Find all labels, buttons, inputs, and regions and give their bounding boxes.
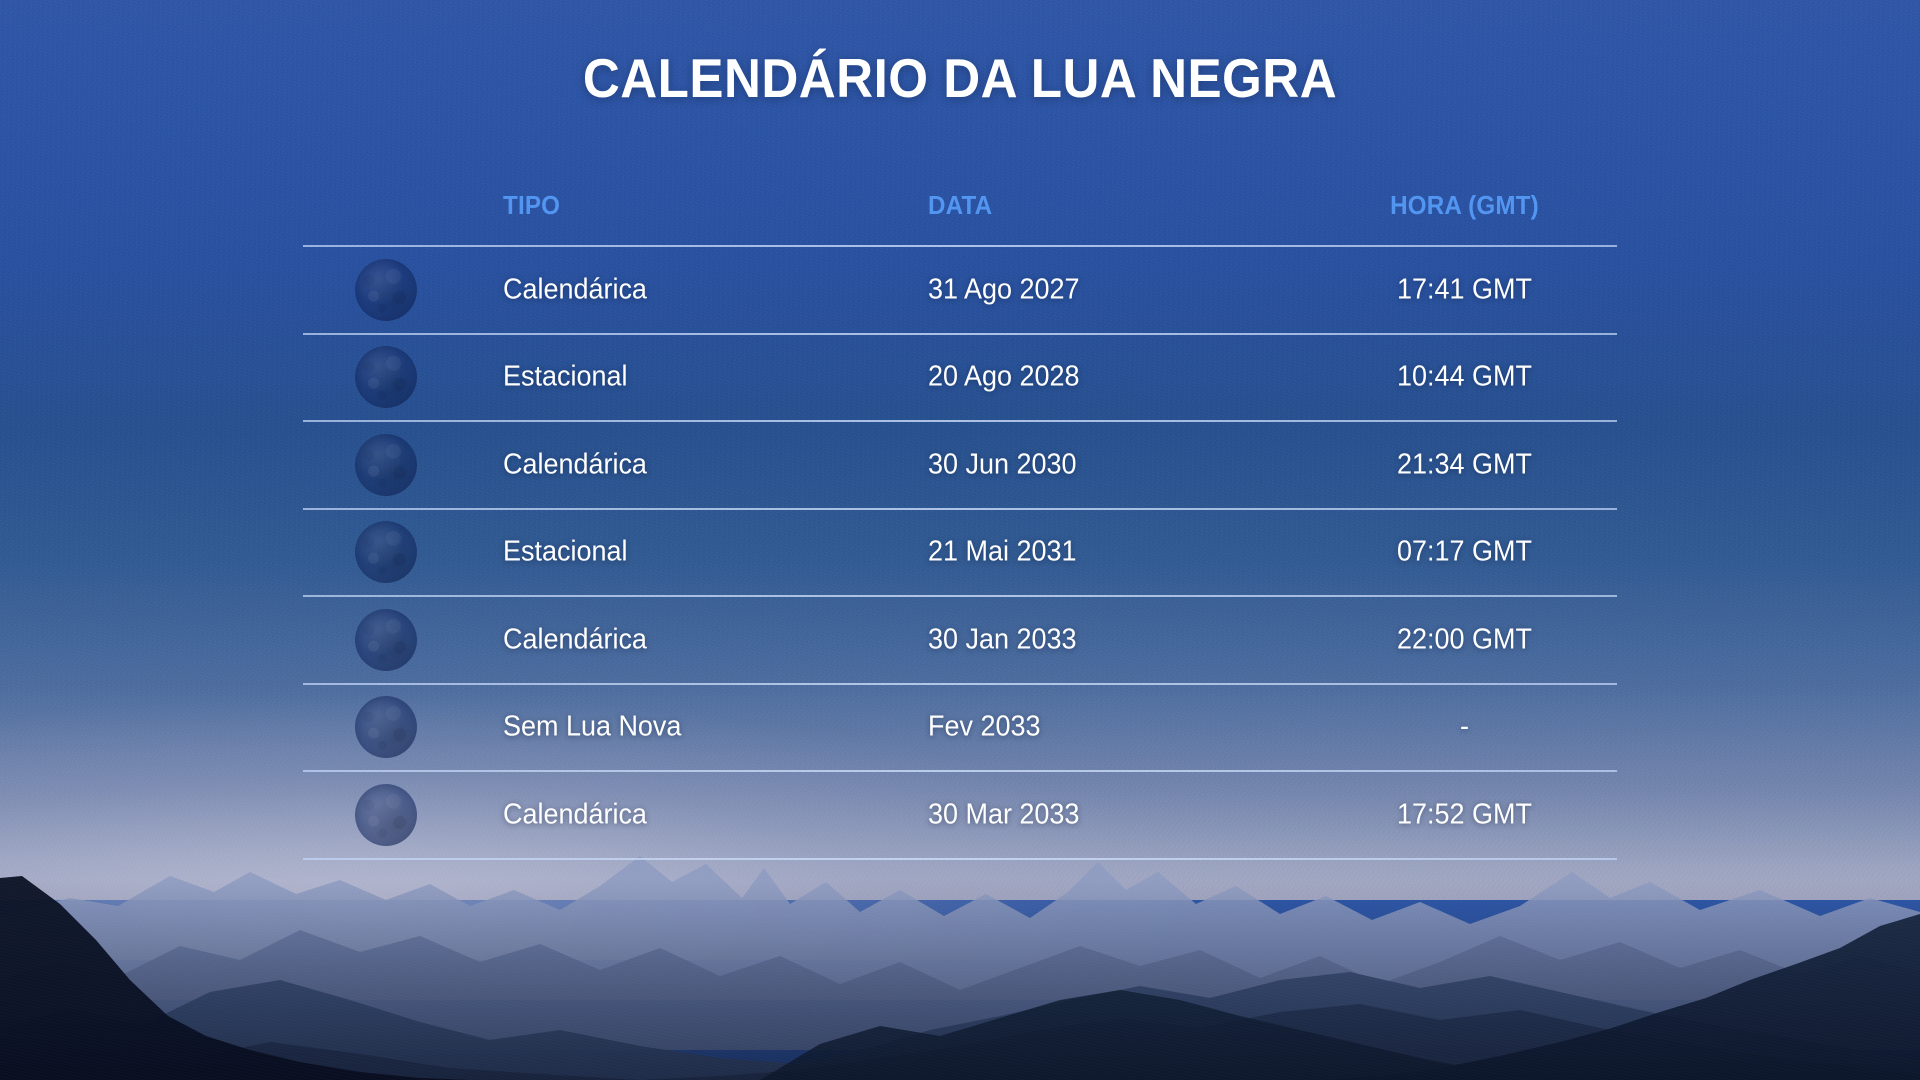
cell-hora: 22:00 GMT xyxy=(1373,623,1556,656)
table-row[interactable]: Calendárica 31 Ago 2027 17:41 GMT xyxy=(303,247,1617,333)
cell-data: 30 Mar 2033 xyxy=(928,798,1079,831)
cell-data: 21 Mai 2031 xyxy=(928,536,1076,569)
moon-icon xyxy=(355,696,417,758)
cell-data: 30 Jan 2033 xyxy=(928,623,1076,656)
moon-icon xyxy=(355,521,417,583)
table-row[interactable]: Calendárica 30 Jun 2030 21:34 GMT xyxy=(303,422,1617,508)
cell-data: Fev 2033 xyxy=(928,711,1040,744)
cell-hora: 21:34 GMT xyxy=(1373,448,1556,481)
column-header-hora: HORA (GMT) xyxy=(1366,190,1563,221)
cell-tipo: Calendárica xyxy=(503,798,647,831)
table-row[interactable]: Estacional 20 Ago 2028 10:44 GMT xyxy=(303,335,1617,421)
table-row[interactable]: Calendárica 30 Jan 2033 22:00 GMT xyxy=(303,597,1617,683)
cell-hora: - xyxy=(1373,711,1556,744)
cell-tipo: Calendárica xyxy=(503,448,647,481)
moon-icon xyxy=(355,259,417,321)
cell-hora: 10:44 GMT xyxy=(1373,361,1556,394)
cell-tipo: Sem Lua Nova xyxy=(503,711,681,744)
table-row[interactable]: Calendárica 30 Mar 2033 17:52 GMT xyxy=(303,772,1617,858)
cell-tipo: Calendárica xyxy=(503,273,647,306)
cell-tipo: Estacional xyxy=(503,536,627,569)
cell-data: 31 Ago 2027 xyxy=(928,273,1079,306)
cell-data: 30 Jun 2030 xyxy=(928,448,1076,481)
cell-data: 20 Ago 2028 xyxy=(928,361,1079,394)
moon-icon xyxy=(355,784,417,846)
table-row[interactable]: Estacional 21 Mai 2031 07:17 GMT xyxy=(303,510,1617,596)
black-moon-calendar-table: TIPO DATA HORA (GMT) Calendárica 31 Ago … xyxy=(303,190,1617,860)
cell-hora: 17:41 GMT xyxy=(1373,273,1556,306)
cell-hora: 07:17 GMT xyxy=(1373,536,1556,569)
table-header-row: TIPO DATA HORA (GMT) xyxy=(303,190,1617,245)
moon-icon xyxy=(355,609,417,671)
column-header-tipo: TIPO xyxy=(503,190,564,221)
table-divider xyxy=(303,858,1617,860)
cell-hora: 17:52 GMT xyxy=(1373,798,1556,831)
table-row[interactable]: Sem Lua Nova Fev 2033 - xyxy=(303,685,1617,771)
column-header-data: DATA xyxy=(928,190,997,221)
cell-tipo: Calendárica xyxy=(503,623,647,656)
cell-tipo: Estacional xyxy=(503,361,627,394)
page-title: CALENDÁRIO DA LUA NEGRA xyxy=(67,46,1853,110)
moon-icon xyxy=(355,346,417,408)
moon-icon xyxy=(355,434,417,496)
